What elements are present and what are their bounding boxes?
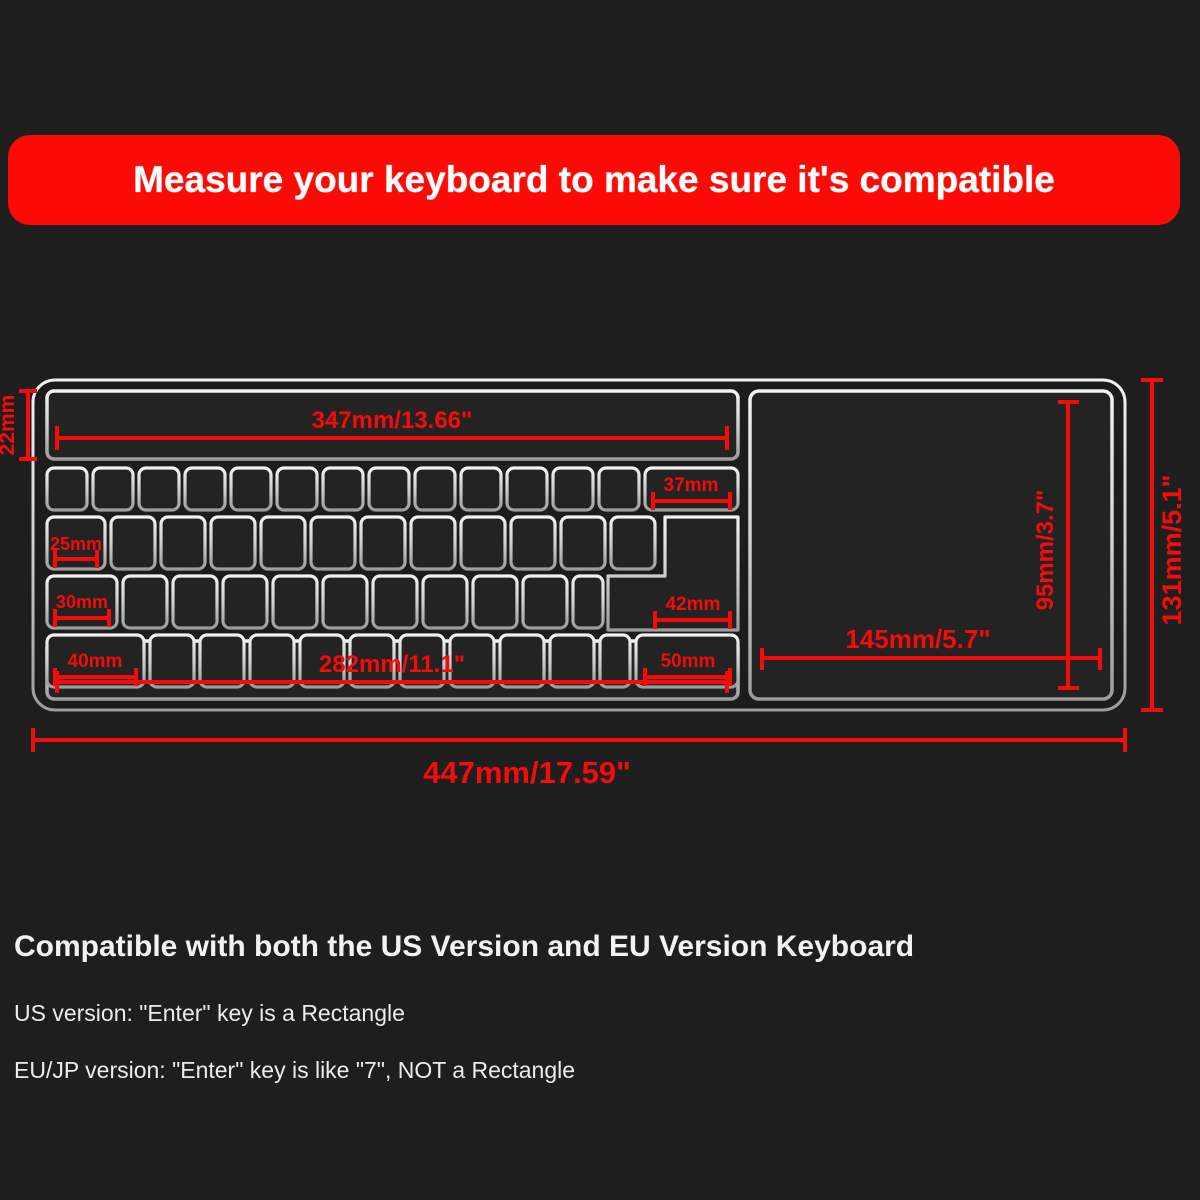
label-30mm: 30mm — [56, 592, 108, 612]
key — [511, 517, 555, 569]
key — [373, 576, 417, 628]
key — [523, 576, 567, 628]
notes-heading: Compatible with both the US Version and … — [14, 930, 1184, 964]
banner-text: Measure your keyboard to make sure it's … — [133, 159, 1055, 201]
keyboard-diagram-svg: 347mm/13.66" 282mm/11.1" 22mm 37mm 25mm … — [0, 360, 1200, 800]
key — [461, 517, 505, 569]
label-131mm: 131mm/5.1" — [1157, 475, 1187, 626]
key — [550, 635, 594, 687]
key — [323, 576, 367, 628]
key — [173, 576, 217, 628]
key — [231, 468, 271, 510]
key — [323, 468, 363, 510]
key — [423, 576, 467, 628]
key — [369, 468, 409, 510]
label-40mm: 40mm — [68, 651, 123, 672]
key — [273, 576, 317, 628]
key — [250, 635, 294, 687]
key — [473, 576, 517, 628]
key — [553, 468, 593, 510]
key — [599, 468, 639, 510]
key — [200, 635, 244, 687]
key — [93, 468, 133, 510]
key — [185, 468, 225, 510]
key — [123, 576, 167, 628]
label-282mm: 282mm/11.1" — [319, 651, 465, 678]
label-50mm: 50mm — [661, 651, 716, 672]
key — [161, 517, 205, 569]
compatibility-banner: Measure your keyboard to make sure it's … — [8, 135, 1180, 225]
compatibility-notes: Compatible with both the US Version and … — [14, 930, 1184, 1114]
key — [47, 468, 87, 510]
label-447mm: 447mm/17.59" — [423, 755, 631, 790]
key — [500, 635, 544, 687]
key-row-tab — [47, 517, 655, 569]
key — [573, 576, 603, 628]
key — [411, 517, 455, 569]
key — [600, 635, 630, 687]
key — [139, 468, 179, 510]
key — [361, 517, 405, 569]
keyboard-dimension-diagram: 347mm/13.66" 282mm/11.1" 22mm 37mm 25mm … — [0, 360, 1200, 800]
key — [611, 517, 655, 569]
label-95mm: 95mm/3.7" — [1032, 490, 1059, 611]
key — [211, 517, 255, 569]
notes-eu-version: EU/JP version: "Enter" key is like "7", … — [14, 1057, 1184, 1084]
label-22mm: 22mm — [0, 395, 19, 456]
key — [111, 517, 155, 569]
key — [277, 468, 317, 510]
key — [150, 635, 194, 687]
label-37mm: 37mm — [664, 475, 719, 496]
label-25mm: 25mm — [50, 534, 102, 554]
key — [261, 517, 305, 569]
key — [461, 468, 501, 510]
label-347mm: 347mm/13.66" — [312, 407, 473, 434]
notes-us-version: US version: "Enter" key is a Rectangle — [14, 1000, 1184, 1027]
key — [507, 468, 547, 510]
key — [311, 517, 355, 569]
key-row-function — [47, 468, 738, 510]
label-145mm: 145mm/5.7" — [845, 624, 990, 654]
label-42mm: 42mm — [666, 594, 721, 615]
key — [223, 576, 267, 628]
key — [561, 517, 605, 569]
key — [415, 468, 455, 510]
